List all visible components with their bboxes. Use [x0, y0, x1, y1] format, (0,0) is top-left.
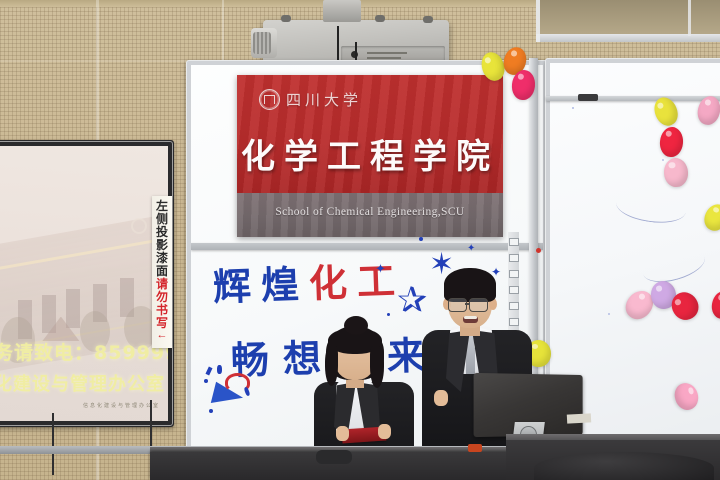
- university-logo-icon: [259, 89, 280, 110]
- popper-confetti: [205, 367, 212, 376]
- ink-speck: [608, 313, 610, 315]
- glasses-lens-left-icon: [448, 298, 467, 312]
- window-mullion: [688, 0, 691, 36]
- ink-dot: [419, 237, 423, 241]
- projected-image: 务请致电：85999990 化建设与管理办公室 信息化建设与管理办公室: [0, 146, 168, 421]
- red-marker-dot: [536, 248, 541, 253]
- projector-cable: [337, 26, 357, 60]
- tray-slot: [509, 254, 519, 262]
- ink-speck: [662, 159, 664, 161]
- department-name: 化学工程学院: [237, 129, 503, 178]
- projection-footer: 信息化建设与管理办公室: [83, 402, 160, 409]
- screen-leg: [52, 413, 54, 475]
- classroom-photo: 务请致电：85999990 化建设与管理办公室 信息化建设与管理办公室 左 侧 …: [0, 0, 720, 480]
- popper-confetti: [204, 379, 208, 383]
- rail-clip: [578, 94, 598, 101]
- man-hair: [444, 268, 496, 302]
- star-icon: ✦: [467, 243, 475, 254]
- department-name-english: School of Chemical Engineering,SCU: [237, 206, 503, 218]
- projected-logo: [131, 218, 147, 234]
- tray-slot: [509, 238, 519, 246]
- whiteboard-rail: [546, 96, 720, 101]
- upper-window-band: [536, 0, 720, 36]
- foreground-object: [534, 452, 714, 480]
- woman-hair-side-right: [370, 346, 384, 388]
- ink-dot: [387, 313, 390, 316]
- woman-hair-side-left: [325, 346, 338, 386]
- wall-seam: [222, 0, 224, 60]
- university-name: 四川大学: [286, 89, 362, 110]
- popper-confetti: [209, 409, 213, 413]
- ink-speck: [572, 107, 574, 109]
- projection-text-line1: 务请致电：85999990: [0, 338, 168, 365]
- warning-sign-no-writing: 左 侧 投 影 漆 面 请 勿 书 写 ←: [152, 196, 172, 348]
- star-icon: ✦: [375, 261, 386, 277]
- balloon-string: [614, 188, 687, 226]
- desk-red-item: [468, 444, 482, 452]
- party-popper-doodle: [207, 365, 259, 421]
- balloon-string: [639, 243, 709, 289]
- university-mark: 四川大学: [259, 89, 362, 110]
- man-mouth: [463, 316, 478, 323]
- projector-knob: [423, 16, 433, 23]
- hw-blue-part: 辉煌: [212, 262, 309, 309]
- window-frame: [536, 34, 720, 42]
- woman-hair-bun: [344, 316, 368, 335]
- man-hand: [434, 390, 448, 406]
- podium-microphone-base: [316, 450, 352, 464]
- arrow-left-icon: ←: [157, 331, 168, 340]
- monitor-asset-tag: [567, 413, 591, 423]
- projector-mount: [323, 0, 361, 22]
- whiteboard-divider: [191, 243, 543, 250]
- hw-red-part: 化工: [308, 259, 405, 306]
- woman-hand-right: [378, 424, 391, 439]
- popper-confetti: [244, 387, 251, 397]
- department-banner: 四川大学 化学工程学院 School of Chemical Engineeri…: [237, 75, 503, 237]
- banner-gray-band: School of Chemical Engineering,SCU: [237, 193, 503, 237]
- projection-text-line2: 化建设与管理办公室: [0, 370, 168, 396]
- projector-knob: [281, 15, 291, 22]
- projection-screen: 务请致电：85999990 化建设与管理办公室 信息化建设与管理办公室: [0, 140, 174, 427]
- popper-confetti: [217, 365, 222, 374]
- window-mullion: [536, 0, 540, 42]
- glasses-bridge-icon: [465, 303, 469, 305]
- projected-window: [66, 289, 80, 328]
- projector-knob: [375, 15, 385, 22]
- glasses-lens-right-icon: [469, 298, 488, 312]
- woman-hand-left: [336, 426, 349, 441]
- projector-lens: [251, 28, 277, 58]
